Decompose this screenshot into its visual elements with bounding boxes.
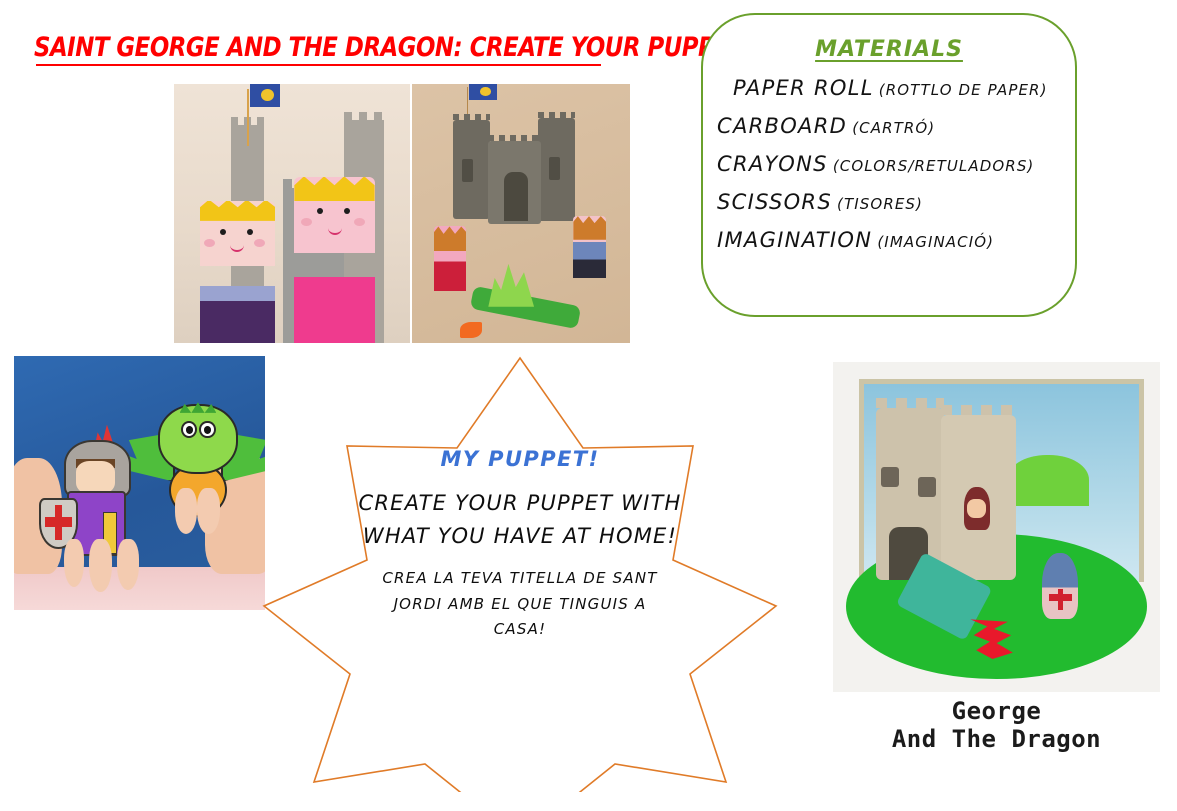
diorama-caption: George And The Dragon <box>833 697 1160 754</box>
king-mouth <box>230 242 244 252</box>
queen-puppet-shape <box>434 226 467 291</box>
materials-panel: MATERIALS PAPER ROLL (ROTTLO DE PAPER) C… <box>701 13 1077 317</box>
king-puppet-shape <box>200 201 276 343</box>
queen-body-shape <box>294 277 374 343</box>
crown-icon <box>434 226 467 251</box>
diorama-caption-line-2: And The Dragon <box>833 725 1160 753</box>
star-line-ca-2: JORDI AMB EL QUE TINGUIS A <box>320 592 720 618</box>
dragon-fire-shape <box>460 322 482 338</box>
king-body-shape <box>200 286 276 343</box>
dragon-eye-left <box>181 421 197 438</box>
castle-window-right <box>918 477 936 498</box>
list-item: CARBOARD (CARTRÓ) <box>717 114 1075 138</box>
materials-heading: MATERIALS <box>703 37 1075 62</box>
king-cheek-left <box>204 239 215 247</box>
material-name-en: CRAYONS <box>717 152 828 176</box>
castle-flag-shape <box>250 84 281 107</box>
material-name-ca: (IMAGINACIÓ) <box>877 233 994 251</box>
queen-cheek-left <box>301 218 312 226</box>
list-item: IMAGINATION (IMAGINACIÓ) <box>717 228 1075 252</box>
star-callout: MY PUPPET! CREATE YOUR PUPPET WITH WHAT … <box>250 352 790 792</box>
castle-flag-shape <box>469 84 497 100</box>
material-name-en: IMAGINATION <box>717 228 872 252</box>
castle-door-shape <box>504 172 528 221</box>
castle-window-left <box>881 467 899 488</box>
list-item: CRAYONS (COLORS/RETULADORS) <box>717 152 1075 176</box>
material-name-ca: (COLORS/RETULADORS) <box>833 157 1035 175</box>
photo-roll-king-queen-puppets <box>174 84 410 343</box>
castle-window-left <box>462 159 473 182</box>
material-name-en: SCISSORS <box>717 190 832 214</box>
knight-face-shape <box>76 461 115 494</box>
list-item: PAPER ROLL (ROTTLO DE PAPER) <box>733 76 1075 100</box>
photo-finger-puppets-knight-dragon <box>14 356 265 610</box>
dragon-head-shape <box>158 404 239 474</box>
materials-list: PAPER ROLL (ROTTLO DE PAPER) CARBOARD (C… <box>717 76 1075 252</box>
star-line-en-1: CREATE YOUR PUPPET WITH <box>320 487 720 520</box>
photo-cardboard-castle-and-dragon <box>412 84 630 343</box>
material-name-ca: (CARTRÓ) <box>852 119 935 137</box>
material-name-en: PAPER ROLL <box>733 76 874 100</box>
diorama-caption-line-1: George <box>833 697 1160 725</box>
star-line-en-2: WHAT YOU HAVE AT HOME! <box>320 520 720 553</box>
queen-eye-right <box>344 208 350 214</box>
king-eye-left <box>220 229 226 235</box>
photo-castle-diorama <box>833 362 1160 692</box>
list-item: SCISSORS (TISORES) <box>717 190 1075 214</box>
star-line-ca-3: CASA! <box>320 617 720 643</box>
castle-window-right <box>549 157 560 180</box>
crown-icon <box>573 216 606 240</box>
material-name-en: CARBOARD <box>717 114 847 138</box>
princess-figure-shape <box>964 487 990 530</box>
finger-shape <box>89 539 112 592</box>
star-title: MY PUPPET! <box>320 447 720 471</box>
king-puppet-shape <box>573 216 606 278</box>
finger-shape <box>197 488 220 534</box>
green-hill-shape <box>1007 455 1089 506</box>
finger-shape <box>175 488 198 534</box>
material-name-ca: (ROTTLO DE PAPER) <box>879 81 1048 99</box>
star-line-ca-1: CREA LA TEVA TITELLA DE SANT <box>320 566 720 592</box>
king-cheek-right <box>254 239 265 247</box>
star-subtext-block: CREA LA TEVA TITELLA DE SANT JORDI AMB E… <box>320 566 720 643</box>
star-text-block: MY PUPPET! CREATE YOUR PUPPET WITH WHAT … <box>320 447 720 643</box>
page-title-underline <box>36 64 601 66</box>
queen-eye-left <box>317 208 323 214</box>
queen-puppet-shape <box>294 177 374 343</box>
queen-cheek-right <box>354 218 365 226</box>
knight-figure-shape <box>1042 553 1078 619</box>
page-title: SAINT GEORGE AND THE DRAGON: CREATE YOUR… <box>34 32 754 63</box>
material-name-ca: (TISORES) <box>837 195 923 213</box>
queen-mouth <box>328 225 342 235</box>
king-eye-right <box>247 229 253 235</box>
dragon-eye-right <box>199 421 215 438</box>
dragon-horns-shape <box>180 402 217 413</box>
